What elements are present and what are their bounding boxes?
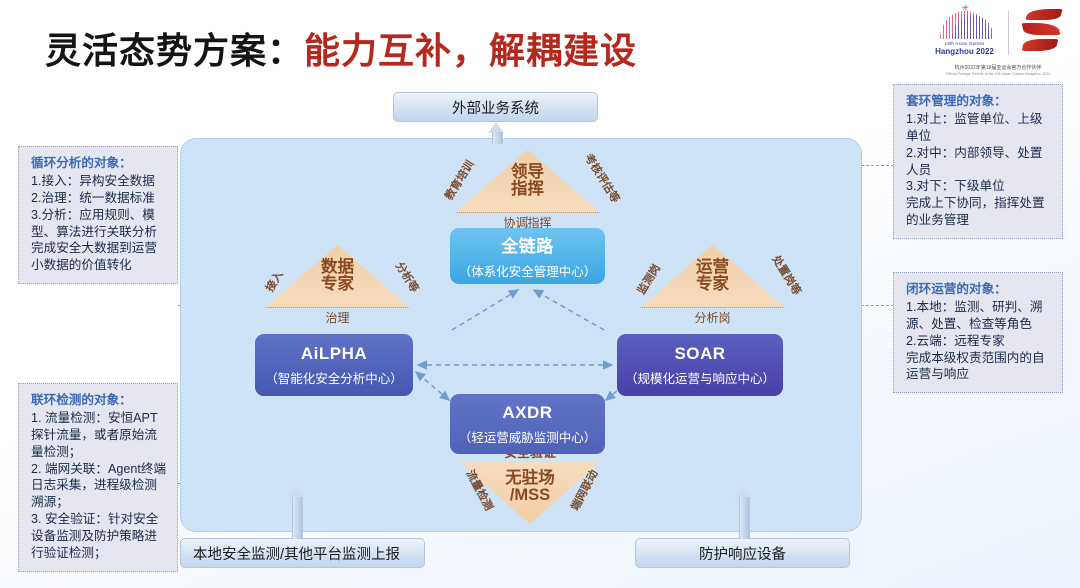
logo-stroke-1 <box>1025 9 1063 20</box>
note-chain-detection-head: 联环检测的对象： <box>31 392 167 409</box>
platform-axdr-title: AXDR <box>502 403 552 423</box>
note-chain-detection: 联环检测的对象： 1. 流量检测：安恒APT探针流量，或者原始流量检测； 2. … <box>18 383 178 572</box>
logo-row: ✳ 19th Asian Games Hangzhou 2022 <box>928 4 1068 62</box>
page-title-red: 能力互补，解耦建设 <box>304 30 637 71</box>
page-title-black: 灵活态势方案： <box>45 30 304 71</box>
platform-ailpha-title: AiLPHA <box>301 344 367 364</box>
platform-soar-sub: （规模化运营与响应中心） <box>625 368 775 387</box>
triangle-leadership[interactable]: 领导 指挥 协调指挥 教育培训 考核评估等 <box>455 150 600 212</box>
logo-caption-en: Official Prestige Partner of the 19th As… <box>928 72 1068 76</box>
logo-stroke-2 <box>1021 23 1060 35</box>
arrow-shaft <box>292 497 303 539</box>
arrow-shaft <box>739 497 750 539</box>
platform-full-link[interactable]: 全链路 （体系化安全管理中心） <box>450 228 605 284</box>
note-cycle-analysis-body: 1.接入：异构安全数据 2.治理：统一数据标准 3.分析：应用规则、模型、算法进… <box>31 173 167 274</box>
partner-logo: ✳ 19th Asian Games Hangzhou 2022 杭州2022年… <box>928 4 1068 82</box>
platform-ailpha-sub: （智能化安全分析中心） <box>265 368 403 387</box>
triangle-leadership-label: 领导 指挥 <box>455 164 600 199</box>
external-business-system-box[interactable]: 外部业务系统 <box>393 92 598 122</box>
triangle-mss[interactable]: 无驻场 /MSS 安全验证 流量检测 端网联动 <box>460 462 600 524</box>
platform-full-link-sub: （体系化安全管理中心） <box>459 261 597 280</box>
triangle-data-label: 数据 专家 <box>265 259 410 294</box>
logo-games-en: 19th Asian Games <box>932 41 998 46</box>
platform-axdr-sub: （轻运营威胁监测中心） <box>459 427 597 446</box>
platform-soar[interactable]: SOAR （规模化运营与响应中心） <box>617 334 783 396</box>
arrow-up-local-monitor <box>288 487 305 539</box>
triangle-ops-expert[interactable]: 运营 专家 分析岗 监测岗 处置岗等 <box>640 245 785 307</box>
note-ring-management-body: 1.对上：监管单位、上级单位 2.对中：内部领导、处置人员 3.对下：下级单位 … <box>906 111 1052 229</box>
note-closed-loop-ops-head: 闭环运营的对象： <box>906 281 1052 298</box>
logo-divider <box>1008 11 1009 55</box>
logo-caption-cn: 杭州2022年第19届亚运会官方合作伙伴 <box>928 64 1068 71</box>
arrow-up-response-device <box>735 487 752 539</box>
logo-stroke-3 <box>1021 39 1058 51</box>
page-title: 灵活态势方案：能力互补，解耦建设 <box>45 22 637 74</box>
platform-ailpha[interactable]: AiLPHA （智能化安全分析中心） <box>255 334 413 396</box>
company-logo-icon <box>1019 7 1065 59</box>
triangle-data-expert[interactable]: 数据 专家 治理 接入 分析等 <box>265 245 410 307</box>
response-device-box[interactable]: 防护响应设备 <box>635 538 850 568</box>
triangle-ops-bottom: 分析岗 <box>640 309 785 326</box>
platform-soar-title: SOAR <box>674 344 725 364</box>
platform-full-link-title: 全链路 <box>501 232 554 257</box>
note-cycle-analysis-head: 循环分析的对象： <box>31 155 167 172</box>
note-ring-management-head: 套环管理的对象： <box>906 93 1052 110</box>
local-monitor-box[interactable]: 本地安全监测/其他平台监测上报 <box>180 538 425 568</box>
note-closed-loop-ops: 闭环运营的对象： 1.本地：监测、研判、溯源、处置、检查等角色 2.云端：远程专… <box>893 272 1063 393</box>
platform-axdr[interactable]: AXDR （轻运营威胁监测中心） <box>450 394 605 454</box>
arrow-shaft <box>492 132 503 144</box>
note-closed-loop-ops-body: 1.本地：监测、研判、溯源、处置、检查等角色 2.云端：远程专家 完成本级权责范… <box>906 299 1052 383</box>
note-cycle-analysis: 循环分析的对象： 1.接入：异构安全数据 2.治理：统一数据标准 3.分析：应用… <box>18 146 178 284</box>
note-ring-management: 套环管理的对象： 1.对上：监管单位、上级单位 2.对中：内部领导、处置人员 3… <box>893 84 1063 239</box>
logo-games-city: Hangzhou 2022 <box>932 47 998 56</box>
note-chain-detection-body: 1. 流量检测：安恒APT探针流量，或者原始流量检测； 2. 端网关联：Agen… <box>31 410 167 562</box>
slide-canvas: 灵活态势方案：能力互补，解耦建设 ✳ 19th Asian Games Hang… <box>0 0 1080 588</box>
arrow-up-external <box>488 122 505 144</box>
triangle-data-bottom: 治理 <box>265 309 410 326</box>
asian-games-logo-icon: ✳ 19th Asian Games Hangzhou 2022 <box>932 5 998 61</box>
triangle-ops-label: 运营 专家 <box>640 259 785 294</box>
